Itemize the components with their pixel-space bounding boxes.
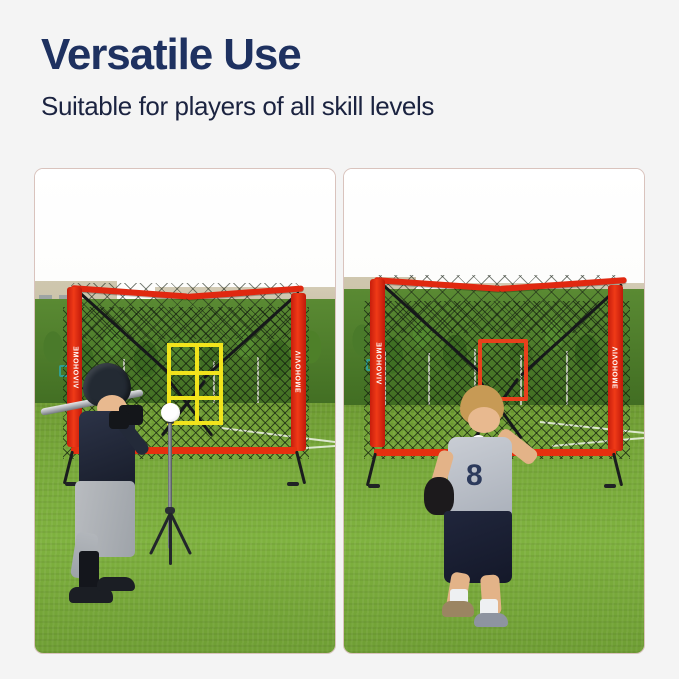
panel-left-batting[interactable]: VIVOHOME VIVOHOME	[34, 168, 336, 654]
player-head	[468, 407, 500, 433]
brand-label-right: VIVOHOME	[612, 347, 619, 390]
player-thrower[interactable]: 8	[426, 383, 546, 629]
throwing-practice-scene: VIVOHOME VIVOHOME 8	[344, 169, 644, 653]
net-post-left[interactable]: VIVOHOME	[370, 279, 385, 447]
brand-label-left: VIVOHOME	[374, 342, 381, 385]
net-foot	[604, 484, 616, 488]
brand-label-right: VIVOHOME	[295, 351, 302, 394]
target-grid-line	[171, 396, 219, 400]
net-post-right[interactable]: VIVOHOME	[291, 293, 306, 451]
jersey-number: 8	[466, 459, 483, 493]
net-foot	[368, 484, 380, 488]
panel-right-throwing[interactable]: VIVOHOME VIVOHOME 8	[343, 168, 645, 654]
net-foot	[287, 482, 299, 486]
batting-glove	[109, 411, 129, 429]
baseball-glove[interactable]	[424, 477, 454, 515]
player-shoe	[97, 577, 135, 591]
net-post-right[interactable]: VIVOHOME	[608, 285, 623, 451]
player-shoe	[442, 601, 474, 617]
player-shoe	[474, 613, 508, 627]
header: Versatile Use Suitable for players of al…	[41, 32, 641, 122]
page-subtitle: Suitable for players of all skill levels	[41, 91, 641, 122]
target-grid-line	[171, 371, 219, 375]
page-title: Versatile Use	[41, 32, 641, 78]
batting-practice-scene: VIVOHOME VIVOHOME	[35, 169, 335, 653]
player-batter[interactable]	[53, 355, 173, 605]
